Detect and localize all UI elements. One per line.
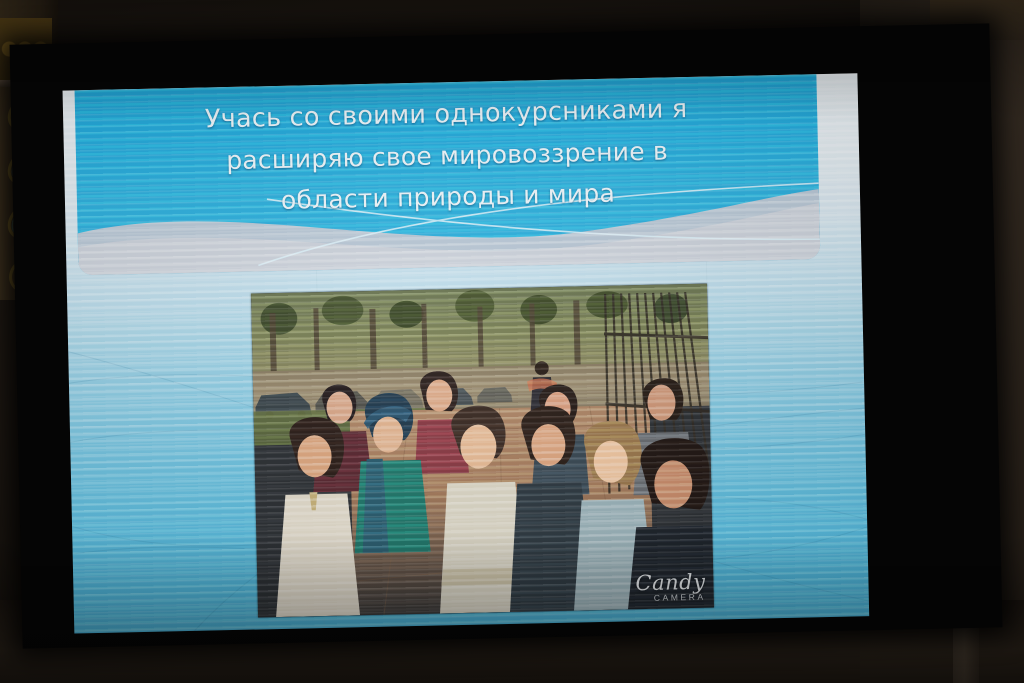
photo-content: Candy CAMERA <box>251 284 714 618</box>
slide-title: Учась со своими однокурсниками я расширя… <box>75 86 820 225</box>
watermark-brand: Candy <box>635 572 705 594</box>
watermark-sub: CAMERA <box>636 592 706 604</box>
photographed-room-scene: Учась со своими однокурсниками я расширя… <box>0 0 1024 683</box>
presentation-slide: Учась со своими однокурсниками я расширя… <box>63 73 870 633</box>
person-headscarf <box>351 392 430 553</box>
projection-screen: Учась со своими однокурсниками я расширя… <box>10 23 1003 648</box>
photo-student-group <box>251 284 714 618</box>
photo-watermark: Candy CAMERA <box>635 572 706 604</box>
slide-photo: Candy CAMERA <box>251 284 714 618</box>
slide-title-banner: Учась со своими однокурсниками я расширя… <box>75 74 821 275</box>
